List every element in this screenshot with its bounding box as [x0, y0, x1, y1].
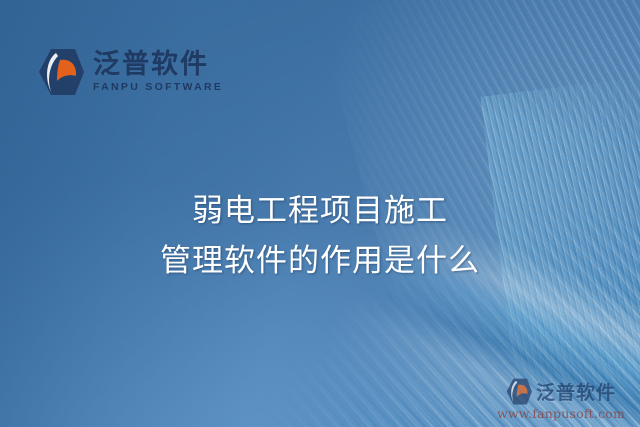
fanpu-hexagon-sail-icon	[506, 378, 532, 405]
watermark-url: www.fanpusoft.com	[486, 406, 636, 421]
brand-logo: 泛普软件 FANPU SOFTWARE	[38, 48, 223, 96]
page-title-line-1: 弱电工程项目施工	[0, 186, 640, 236]
brand-name-cn: 泛普软件	[93, 51, 223, 78]
corner-watermark: 泛普软件 www.fanpusoft.com	[486, 378, 636, 421]
brand-wordmark: 泛普软件 FANPU SOFTWARE	[93, 51, 223, 93]
watermark-brand-name: 泛普软件	[536, 378, 616, 405]
watermark-logo-row: 泛普软件	[486, 378, 636, 405]
brand-name-en: FANPU SOFTWARE	[93, 82, 223, 93]
page-title-line-2: 管理软件的作用是什么	[0, 236, 640, 286]
page-title: 弱电工程项目施工 管理软件的作用是什么	[0, 186, 640, 286]
fanpu-hexagon-sail-icon	[38, 48, 84, 96]
promo-banner: 泛普软件 FANPU SOFTWARE 弱电工程项目施工 管理软件的作用是什么 …	[0, 0, 640, 427]
